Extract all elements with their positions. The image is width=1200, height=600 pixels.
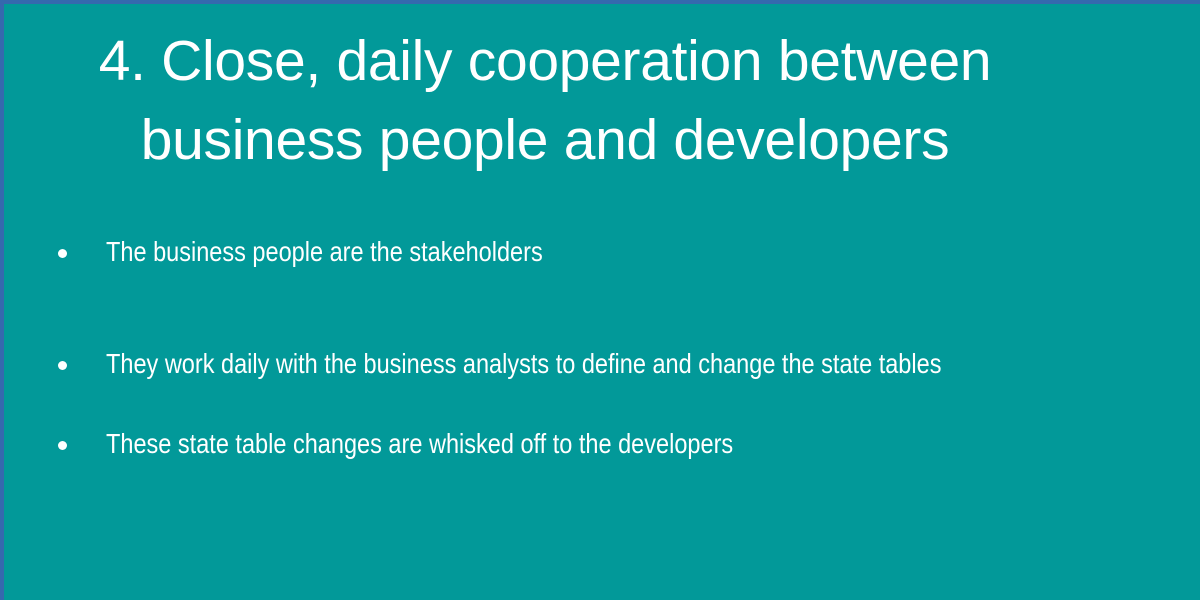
bullet-list: The business people are the stakeholders…	[50, 232, 1150, 463]
slide-title: 4. Close, daily cooperation between busi…	[30, 22, 1060, 180]
list-item-label: They work daily with the business analys…	[106, 344, 1150, 383]
list-item: The business people are the stakeholders	[50, 232, 1150, 271]
list-item-label: These state table changes are whisked of…	[106, 424, 1150, 463]
bullet-dot-icon	[58, 441, 67, 450]
list-item-label: The business people are the stakeholders	[106, 232, 1150, 271]
list-item: These state table changes are whisked of…	[50, 424, 1150, 463]
bullet-dot-icon	[58, 249, 67, 258]
presentation-slide: 4. Close, daily cooperation between busi…	[0, 0, 1200, 600]
list-item: They work daily with the business analys…	[50, 344, 1150, 383]
bullet-dot-icon	[58, 361, 67, 370]
